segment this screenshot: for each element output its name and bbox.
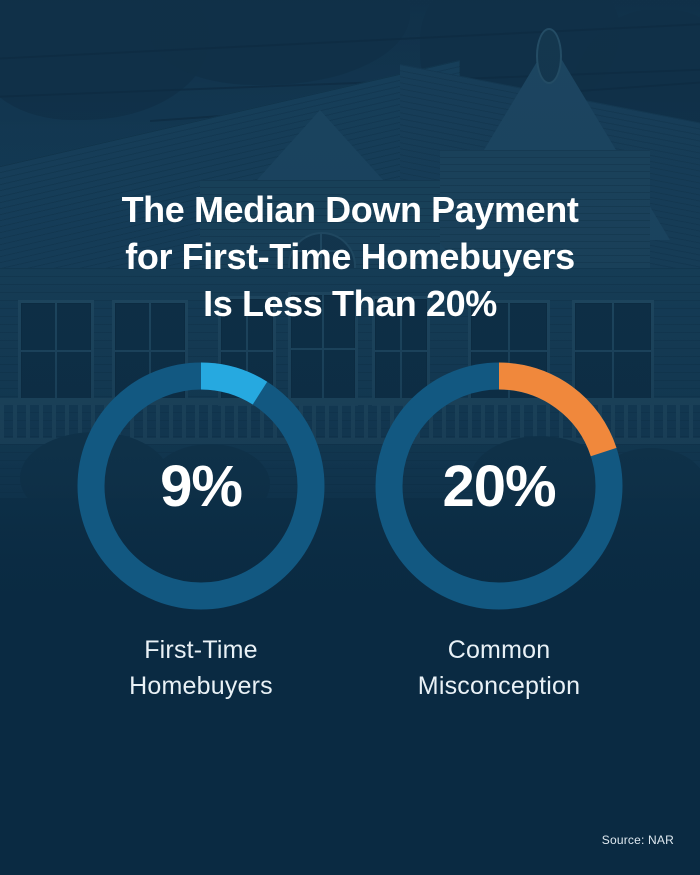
infographic-canvas: The Median Down Payment for First-Time H… <box>0 0 700 875</box>
chart-common-misconception: 20% Common Misconception <box>373 362 625 704</box>
chart-first-time-homebuyers: 9% First-Time Homebuyers <box>75 362 327 704</box>
donut-chart: 9% <box>77 362 325 610</box>
headline-line-2: for First-Time Homebuyers <box>40 233 660 280</box>
headline-line-3: Is Less Than 20% <box>40 280 660 327</box>
caption-line-2: Homebuyers <box>129 668 273 704</box>
donut-value-label: 9% <box>77 362 325 610</box>
caption-line-2: Misconception <box>418 668 580 704</box>
caption-line-1: First-Time <box>129 632 273 668</box>
donut-chart: 20% <box>375 362 623 610</box>
donut-chart-group: 9% First-Time Homebuyers 20% Common <box>0 362 700 704</box>
page-title: The Median Down Payment for First-Time H… <box>40 186 660 327</box>
caption-line-1: Common <box>418 632 580 668</box>
donut-value-label: 20% <box>375 362 623 610</box>
source-attribution: Source: NAR <box>602 833 674 847</box>
content-layer: The Median Down Payment for First-Time H… <box>0 0 700 875</box>
headline-line-1: The Median Down Payment <box>40 186 660 233</box>
chart-caption: Common Misconception <box>418 632 580 704</box>
chart-caption: First-Time Homebuyers <box>129 632 273 704</box>
